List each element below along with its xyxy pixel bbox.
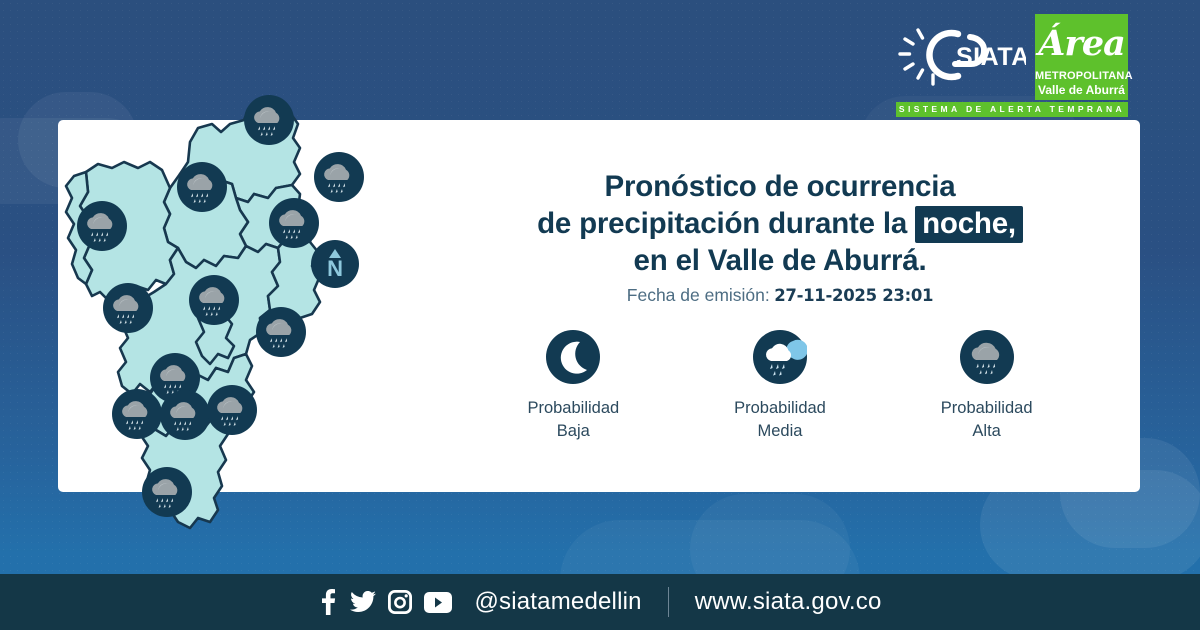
headline-highlight: noche, <box>915 206 1023 243</box>
headline-line-3: en el Valle de Aburrá. <box>470 242 1090 279</box>
headline-line-2: de precipitación durante la noche, <box>470 205 1090 242</box>
svg-text:SIATA: SIATA <box>956 43 1026 71</box>
map-marker <box>189 275 239 325</box>
area-wordmark: Área <box>1035 18 1128 70</box>
map-marker <box>77 201 127 251</box>
siata-tagline-text: SISTEMA DE ALERTA TEMPRANA <box>896 102 1128 117</box>
infographic-root: SIATA Área METROPOLITANA Valle de Aburrá… <box>0 0 1200 630</box>
map-marker <box>103 283 153 333</box>
map-marker <box>177 162 227 212</box>
legend-label-line1: Probabilidad <box>527 397 619 420</box>
legend-label-alta: Probabilidad Alta <box>941 397 1033 443</box>
moon-icon <box>546 330 600 384</box>
map-marker <box>112 389 162 439</box>
area-line2: Valle de Aburrá <box>1035 83 1128 97</box>
headline-line-1: Pronóstico de ocurrencia <box>470 168 1090 205</box>
probability-legend: Probabilidad Baja <box>470 330 1090 450</box>
map-marker <box>314 152 364 202</box>
footer-divider <box>668 587 669 617</box>
instagram-icon[interactable] <box>388 590 412 614</box>
website-url[interactable]: www.siata.gov.co <box>695 588 882 616</box>
legend-item-alta: Probabilidad Alta <box>902 330 1072 443</box>
facebook-icon[interactable] <box>318 589 338 615</box>
area-metropolitana-logo: Área METROPOLITANA Valle de Aburrá <box>1035 14 1128 100</box>
area-line1: METROPOLITANA <box>1035 70 1128 82</box>
legend-item-baja: Probabilidad Baja <box>488 330 658 443</box>
legend-label-media: Probabilidad Media <box>734 397 826 443</box>
legend-label-line1: Probabilidad <box>941 397 1033 420</box>
map-marker <box>207 385 257 435</box>
headline-line-2-text: de precipitación durante la <box>537 207 907 240</box>
cloud-moon-rain-icon <box>753 330 807 384</box>
svg-text:N: N <box>327 256 343 281</box>
page-title: Pronóstico de ocurrencia de precipitació… <box>470 168 1090 279</box>
legend-item-media: Probabilidad Media <box>695 330 865 443</box>
valle-de-aburra-map: N <box>62 52 392 572</box>
siata-logo-icon: SIATA <box>896 20 1026 96</box>
youtube-icon[interactable] <box>424 592 452 613</box>
logo-group: SIATA Área METROPOLITANA Valle de Aburrá… <box>896 14 1132 110</box>
map-marker <box>269 198 319 248</box>
legend-label-line1: Probabilidad <box>734 397 826 420</box>
social-handle[interactable]: @siatamedellin <box>474 588 641 616</box>
legend-label-line2: Media <box>734 420 826 443</box>
footer-bar: @siatamedellin www.siata.gov.co <box>0 574 1200 630</box>
map-marker <box>142 467 192 517</box>
compass-north-icon: N <box>311 240 359 288</box>
legend-label-baja: Probabilidad Baja <box>527 397 619 443</box>
siata-tagline-bar: SISTEMA DE ALERTA TEMPRANA <box>896 102 1128 117</box>
map-marker <box>244 95 294 145</box>
map-marker <box>160 390 210 440</box>
emission-value: 27-11-2025 23:01 <box>774 286 933 305</box>
emission-date: Fecha de emisión: 27-11-2025 23:01 <box>470 285 1090 306</box>
map-marker <box>256 307 306 357</box>
cloud-rain-icon <box>960 330 1014 384</box>
emission-label: Fecha de emisión: <box>627 285 770 305</box>
twitter-icon[interactable] <box>350 591 376 613</box>
legend-label-line2: Baja <box>527 420 619 443</box>
legend-label-line2: Alta <box>941 420 1033 443</box>
social-icons <box>318 589 452 615</box>
